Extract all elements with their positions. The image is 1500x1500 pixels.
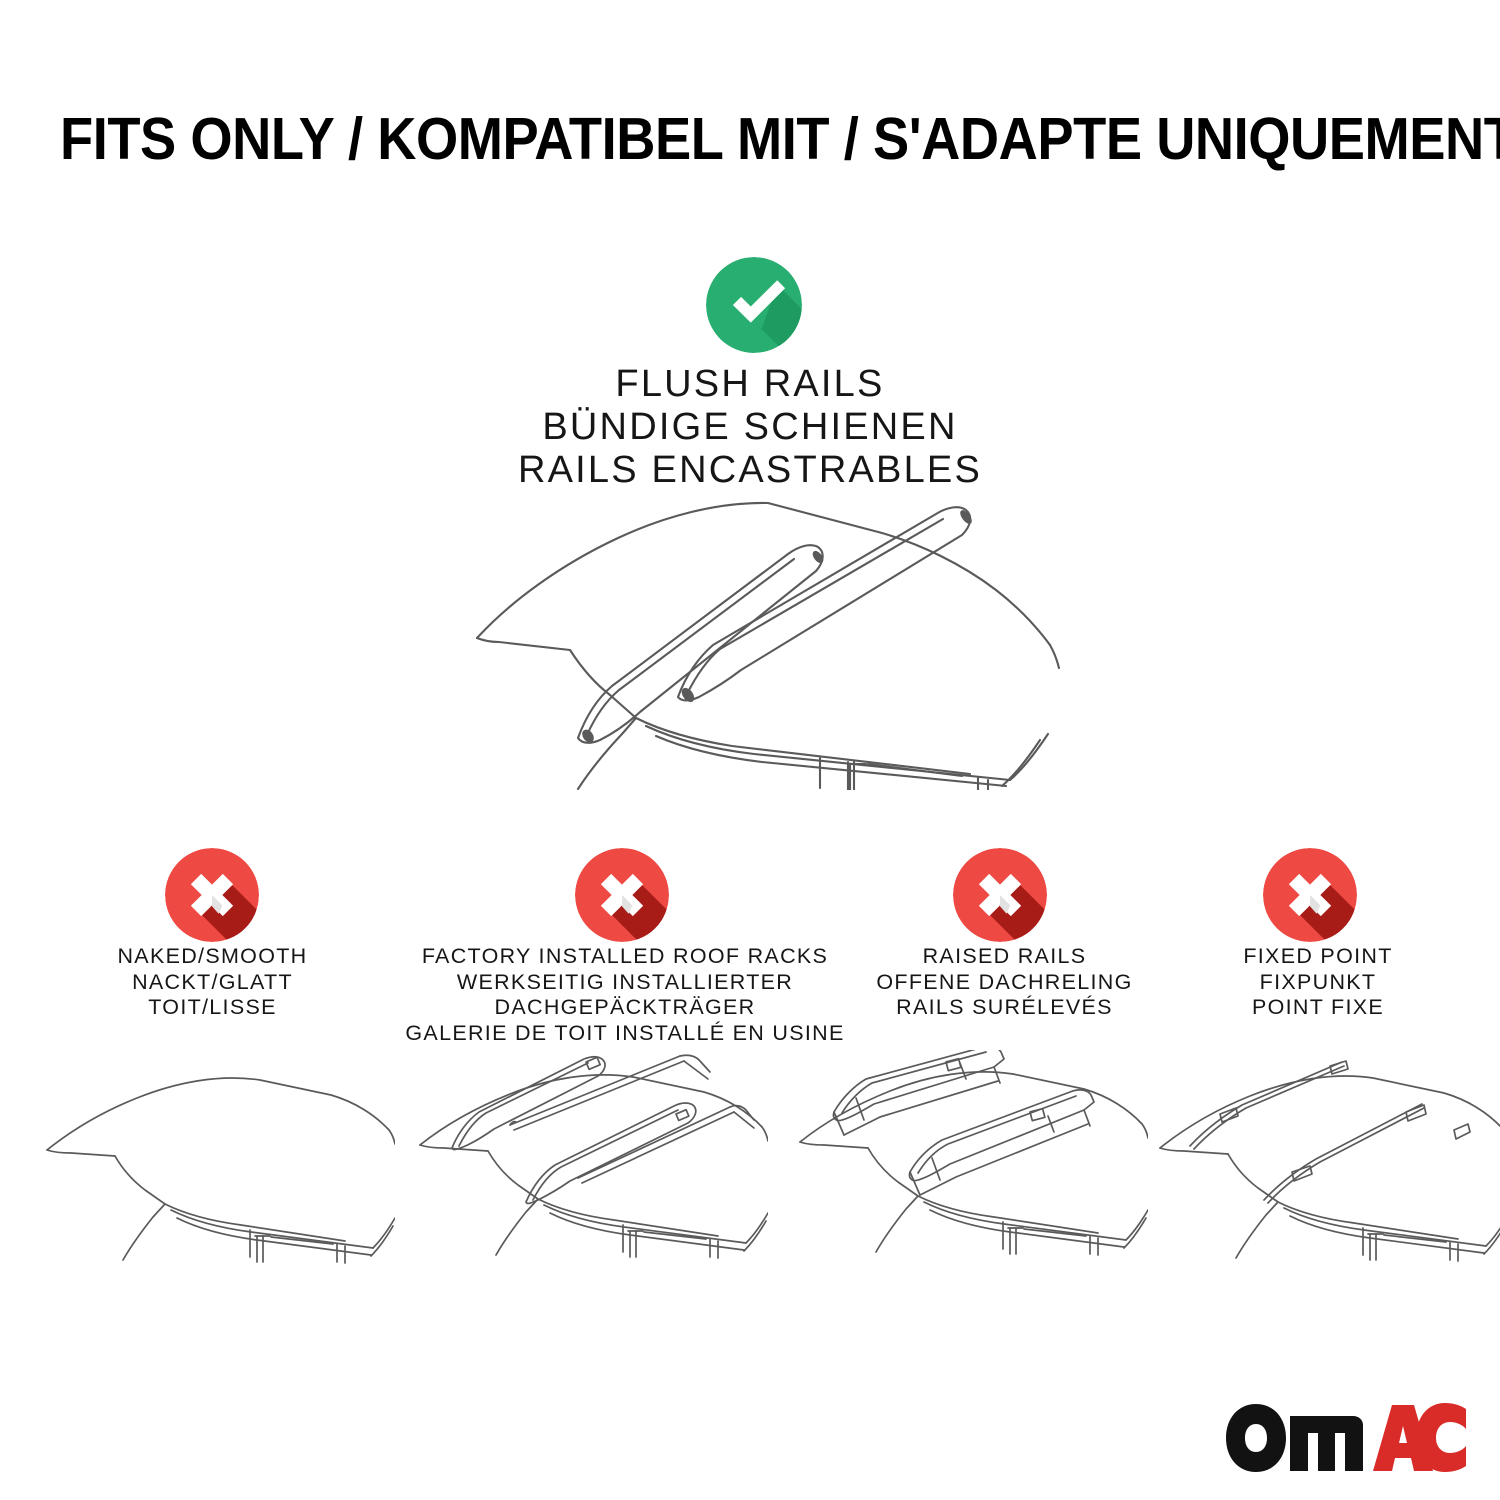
car-roof-naked-smooth-illustration <box>45 1050 395 1280</box>
caption-line-en: FACTORY INSTALLED ROOF RACKS <box>395 944 855 970</box>
x-circle-icon <box>1263 848 1357 942</box>
caption-line-fr: RAILS SURÉLEVÉS <box>838 995 1171 1021</box>
caption-fixed-point: FIXED POINT FIXPUNKT POINT FIXE <box>1168 944 1468 1021</box>
caption-line-en: NAKED/SMOOTH <box>40 944 385 970</box>
caption-raised-rails: RAISED RAILS OFFENE DACHRELING RAILS SUR… <box>838 944 1171 1021</box>
car-roof-factory-roof-racks-illustration <box>418 1050 768 1280</box>
caption-line-de: NACKT/GLATT <box>40 970 385 996</box>
caption-line-fr: POINT FIXE <box>1168 995 1468 1021</box>
hero-caption-line-de: BÜNDIGE SCHIENEN <box>0 406 1500 449</box>
caption-line-fr: TOIT/LISSE <box>40 995 385 1021</box>
caption-factory-installed-roof-racks: FACTORY INSTALLED ROOF RACKS WERKSEITIG … <box>395 944 855 1046</box>
x-circle-icon <box>165 848 259 942</box>
car-roof-with-flush-rails-illustration <box>450 490 1070 790</box>
caption-naked-smooth: NAKED/SMOOTH NACKT/GLATT TOIT/LISSE <box>40 944 385 1021</box>
x-circle-icon <box>575 848 669 942</box>
x-circle-icon <box>953 848 1047 942</box>
hero-caption-line-en: FLUSH RAILS <box>0 363 1500 406</box>
caption-line-de-1: WERKSEITIG INSTALLIERTER <box>395 970 855 996</box>
caption-line-de-2: DACHGEPÄCKTRÄGER <box>395 995 855 1021</box>
caption-line-en: RAISED RAILS <box>838 944 1171 970</box>
page-title: FITS ONLY / KOMPATIBEL MIT / S'ADAPTE UN… <box>60 106 1440 172</box>
caption-line-en: FIXED POINT <box>1168 944 1468 970</box>
caption-line-fr: GALERIE DE TOIT INSTALLÉ EN USINE <box>395 1021 855 1047</box>
fitment-infographic: FITS ONLY / KOMPATIBEL MIT / S'ADAPTE UN… <box>0 0 1500 1500</box>
hero-caption-line-fr: RAILS ENCASTRABLES <box>0 449 1500 492</box>
car-roof-fixed-point-illustration <box>1158 1050 1500 1280</box>
car-roof-raised-rails-illustration <box>798 1050 1148 1280</box>
hero-caption: FLUSH RAILS BÜNDIGE SCHIENEN RAILS ENCAS… <box>0 363 1500 492</box>
caption-line-de: OFFENE DACHRELING <box>838 970 1171 996</box>
check-circle-icon <box>706 257 802 353</box>
omac-logo <box>1224 1402 1468 1472</box>
caption-line-de: FIXPUNKT <box>1168 970 1468 996</box>
